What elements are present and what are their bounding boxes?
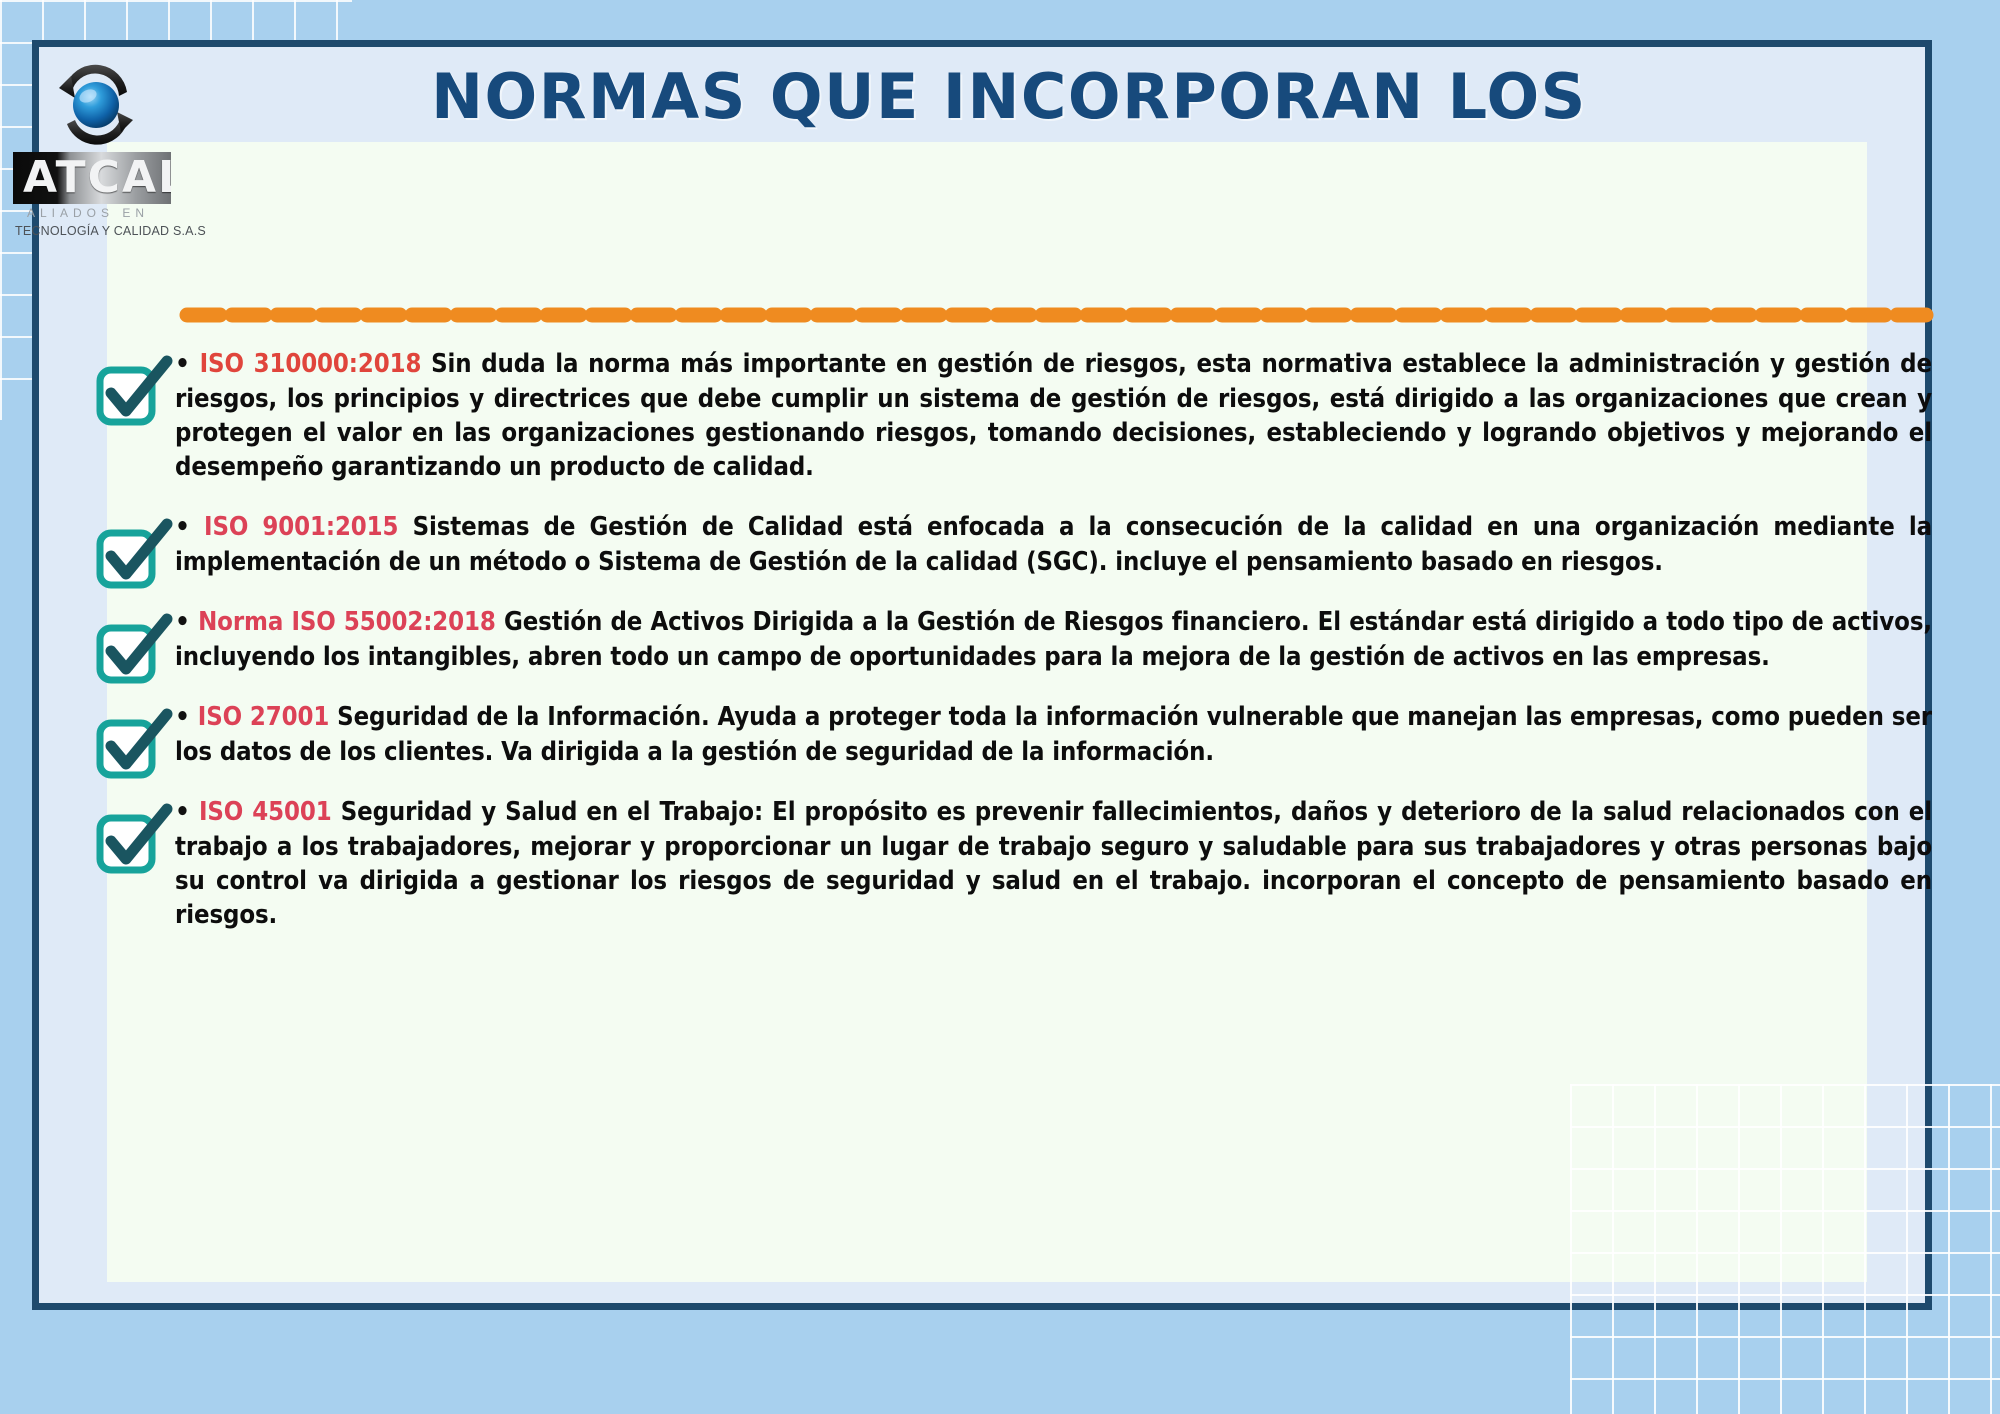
atcal-logo: ATCAL ALIADOS EN TECNOLOGÍA Y CALIDAD S.…: [31, 52, 181, 252]
standard-label: ISO 310000:2018: [200, 349, 422, 379]
list-item-paragraph: • ISO 45001 Seguridad y Salud en el Trab…: [175, 795, 1944, 932]
checkbox-checked-icon[interactable]: [91, 353, 175, 429]
standard-description: Sin duda la norma más importante en gest…: [175, 349, 1932, 482]
bullet-glyph: •: [175, 349, 190, 379]
bullet-glyph: •: [175, 702, 190, 732]
list-item-paragraph: • ISO 27001 Seguridad de la Información.…: [175, 700, 1944, 769]
logo-wordmark-box: ATCAL: [13, 152, 171, 204]
logo-tagline-secondary: TECNOLOGÍA Y CALIDAD S.A.S: [15, 224, 195, 238]
standard-label: ISO 27001: [198, 702, 329, 732]
standard-label: ISO 9001:2015: [204, 512, 398, 542]
list-item: • ISO 27001 Seguridad de la Información.…: [89, 700, 1944, 769]
checkbox-checked-icon[interactable]: [91, 801, 175, 877]
list-item: • Norma ISO 55002:2018 Gestión de Activo…: [89, 605, 1944, 674]
standard-description: Seguridad de la Información. Ayuda a pro…: [175, 702, 1932, 767]
orange-dashed-divider: [179, 307, 1934, 323]
checkbox-checked-icon[interactable]: [91, 706, 175, 782]
list-item-paragraph: • ISO 9001:2015 Sistemas de Gestión de C…: [175, 510, 1944, 579]
bullet-glyph: •: [175, 512, 190, 542]
bullet-glyph: •: [175, 607, 190, 637]
logo-tagline-primary: ALIADOS EN: [27, 206, 187, 220]
standard-label: Norma ISO 55002:2018: [198, 607, 496, 637]
bullet-glyph: •: [175, 797, 190, 827]
list-item: • ISO 310000:2018 Sin duda la norma más …: [89, 347, 1944, 484]
list-item-paragraph: • ISO 310000:2018 Sin duda la norma más …: [175, 347, 1944, 484]
checkbox-checked-icon[interactable]: [91, 611, 175, 687]
checkbox-checked-icon[interactable]: [91, 516, 175, 592]
logo-wordmark-text: ATCAL: [13, 152, 171, 204]
standards-list: • ISO 310000:2018 Sin duda la norma más …: [89, 347, 1944, 959]
standard-label: ISO 45001: [199, 797, 332, 827]
refresh-sphere-icon: [41, 58, 151, 158]
list-item-paragraph: • Norma ISO 55002:2018 Gestión de Activo…: [175, 605, 1944, 674]
standard-description: Seguridad y Salud en el Trabajo: El prop…: [175, 797, 1932, 930]
list-item: • ISO 45001 Seguridad y Salud en el Trab…: [89, 795, 1944, 932]
page-frame: NORMAS QUE INCORPORAN LOS RIESGOS: [32, 40, 1932, 1310]
list-item: • ISO 9001:2015 Sistemas de Gestión de C…: [89, 510, 1944, 579]
standard-description: Sistemas de Gestión de Calidad está enfo…: [175, 512, 1932, 577]
